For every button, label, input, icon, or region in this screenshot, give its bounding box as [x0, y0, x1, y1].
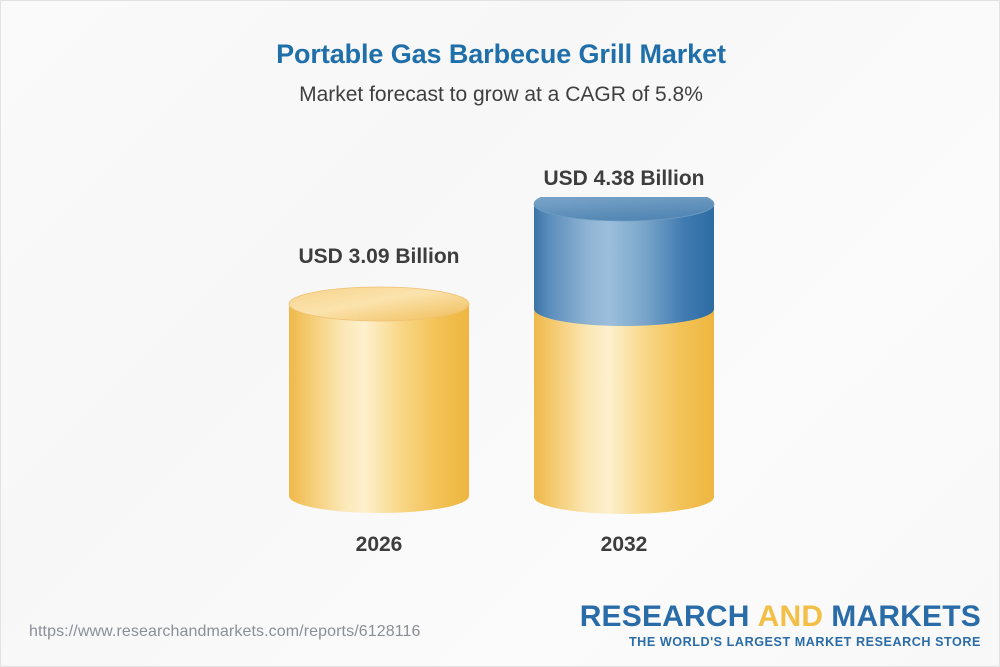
- bar-chart-plot: USD 3.09 Billion: [1, 1, 1000, 601]
- cylinder-top-cap: [289, 287, 469, 321]
- research-and-markets-logo[interactable]: RESEARCHANDMARKETS THE WORLD'S LARGEST M…: [580, 601, 981, 650]
- value-label-2026: USD 3.09 Billion: [249, 244, 509, 270]
- logo-wordmark: RESEARCHANDMARKETS: [580, 601, 981, 633]
- cylinder-body-base-segment: [534, 309, 714, 514]
- bar-cylinder-2032: [524, 197, 724, 527]
- infographic-canvas: Portable Gas Barbecue Grill Market Marke…: [0, 0, 1000, 667]
- category-label-2026: 2026: [249, 532, 509, 558]
- category-label-2032: 2032: [494, 532, 754, 558]
- cylinder-body: [289, 304, 469, 513]
- bar-cylinder-2026: [279, 279, 479, 529]
- value-label-2032: USD 4.38 Billion: [494, 166, 754, 192]
- source-url[interactable]: https://www.researchandmarkets.com/repor…: [29, 623, 421, 641]
- cylinder-body-growth-segment: [534, 204, 714, 326]
- logo-word-and: AND: [758, 600, 824, 633]
- logo-tagline: THE WORLD'S LARGEST MARKET RESEARCH STOR…: [580, 634, 981, 650]
- logo-word-research: RESEARCH: [580, 600, 750, 633]
- logo-word-markets: MARKETS: [831, 600, 981, 633]
